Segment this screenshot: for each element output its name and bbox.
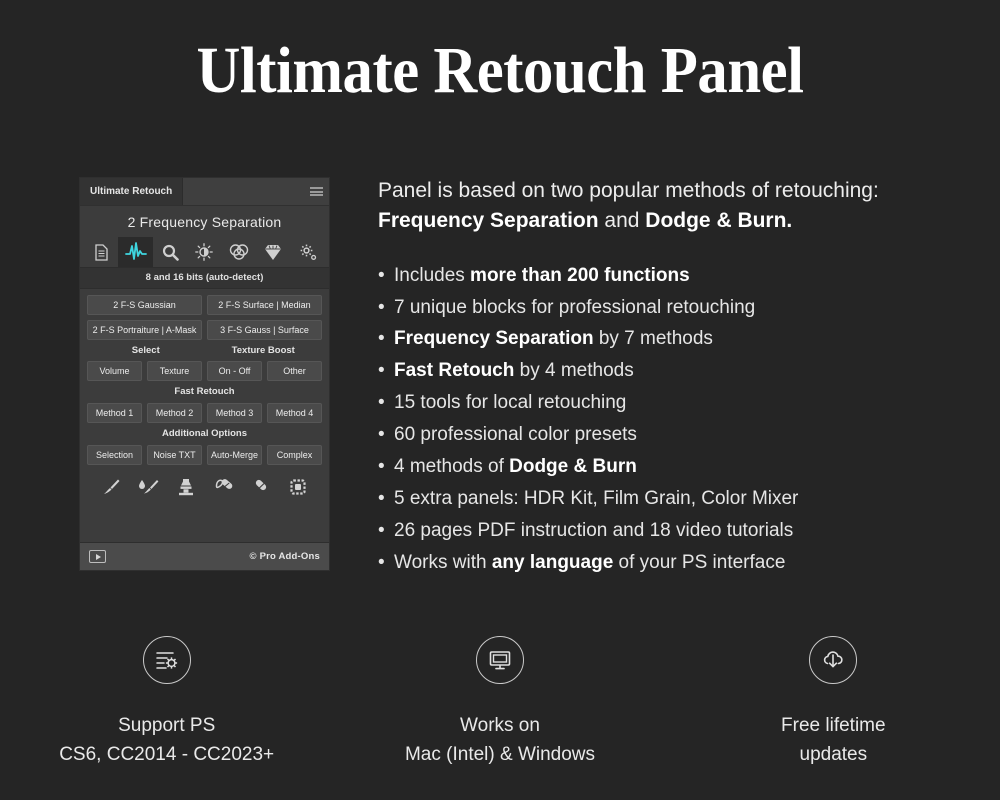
feature-pre: Includes — [394, 265, 470, 286]
button-noise-txt[interactable]: Noise TXT — [147, 445, 202, 465]
ultimate-retouch-panel: Ultimate Retouch 2 Frequency Separation … — [80, 178, 329, 570]
settings-sliders-gear-icon — [143, 636, 191, 684]
button-2fs-surface-median[interactable]: 2 F-S Surface | Median — [207, 295, 322, 315]
panel-tab-ultimate-retouch[interactable]: Ultimate Retouch — [80, 178, 183, 205]
list-item: 5 extra panels: HDR Kit, Film Grain, Col… — [378, 483, 988, 515]
label-texture-boost: Texture Boost — [205, 345, 323, 356]
intro-line-2: Frequency Separation and Dodge & Burn. — [378, 206, 988, 236]
waveform-icon[interactable] — [118, 237, 152, 267]
select-button-row: Volume Texture On - Off Other — [87, 361, 322, 381]
feature-post: by 7 methods — [594, 328, 713, 349]
desktop-monitor-icon — [476, 636, 524, 684]
feature-pre: 7 unique blocks for professional retouch… — [394, 297, 755, 318]
feature-pre: 15 tools for local retouching — [394, 392, 626, 413]
button-on-off[interactable]: On - Off — [207, 361, 262, 381]
button-2fs-portraiture-amask[interactable]: 2 F-S Portraiture | A-Mask — [87, 320, 202, 340]
badge-line-1: Support PS — [59, 711, 274, 740]
list-item: Works with any language of your PS inter… — [378, 547, 988, 579]
fs-button-row-1: 2 F-S Gaussian 2 F-S Surface | Median — [87, 295, 322, 315]
panel-heading: 2 Frequency Separation — [80, 206, 329, 237]
group-labels-row: Select Texture Boost — [87, 345, 322, 356]
button-method-3[interactable]: Method 3 — [207, 403, 262, 423]
patch-tool-icon[interactable] — [213, 477, 235, 502]
feature-post: of your PS interface — [613, 552, 785, 573]
label-select: Select — [87, 345, 205, 356]
color-circles-icon[interactable] — [222, 237, 256, 267]
copy-column: Panel is based on two popular methods of… — [378, 176, 988, 579]
panel-footer: © Pro Add-Ons — [80, 542, 329, 570]
feature-list: Includes more than 200 functions 7 uniqu… — [378, 260, 988, 579]
button-complex[interactable]: Complex — [267, 445, 322, 465]
button-auto-merge[interactable]: Auto-Merge — [207, 445, 262, 465]
feature-bold: Fast Retouch — [394, 360, 514, 381]
button-2fs-gaussian[interactable]: 2 F-S Gaussian — [87, 295, 202, 315]
list-item: Includes more than 200 functions — [378, 260, 988, 292]
cloud-download-icon — [809, 636, 857, 684]
panel-icon-toolbar — [80, 237, 329, 267]
badge-line-2: CS6, CC2014 - CC2023+ — [59, 740, 274, 769]
badge-line-1: Free lifetime — [781, 711, 886, 740]
feature-pre: 26 pages PDF instruction and 18 video tu… — [394, 520, 793, 541]
diamond-icon[interactable] — [256, 237, 290, 267]
badge-line-1: Works on — [405, 711, 595, 740]
feature-bold: any language — [492, 552, 613, 573]
badge-line-2: updates — [781, 740, 886, 769]
intro-bold-dodge-burn: Dodge & Burn. — [645, 209, 792, 232]
feature-post: by 4 methods — [514, 360, 633, 381]
panel-copyright: © Pro Add-Ons — [250, 551, 320, 562]
button-texture[interactable]: Texture — [147, 361, 202, 381]
button-method-2[interactable]: Method 2 — [147, 403, 202, 423]
button-volume[interactable]: Volume — [87, 361, 142, 381]
badge-text-free-updates: Free lifetime updates — [781, 711, 886, 770]
intro-paragraph: Panel is based on two popular methods of… — [378, 176, 988, 236]
magnifier-icon[interactable] — [153, 237, 187, 267]
healing-brush-icon[interactable] — [251, 477, 271, 502]
panel-tabbar-spacer — [183, 178, 303, 205]
label-additional-options: Additional Options — [87, 428, 322, 439]
badge-free-updates: Free lifetime updates — [667, 636, 1000, 770]
badge-line-2: Mac (Intel) & Windows — [405, 740, 595, 769]
play-icon[interactable] — [89, 550, 106, 563]
badge-works-on: Works on Mac (Intel) & Windows — [333, 636, 666, 770]
feature-bold: Frequency Separation — [394, 328, 594, 349]
intro-conjunction: and — [599, 209, 646, 232]
hamburger-menu-icon[interactable] — [303, 178, 329, 205]
list-item: Fast Retouch by 4 methods — [378, 355, 988, 387]
panel-tool-row — [87, 470, 322, 511]
texture-chip-icon[interactable] — [288, 477, 308, 502]
feature-pre: 4 methods of — [394, 456, 509, 477]
bit-depth-note: 8 and 16 bits (auto-detect) — [80, 267, 329, 289]
intro-line-1: Panel is based on two popular methods of… — [378, 176, 988, 206]
fast-retouch-button-row: Method 1 Method 2 Method 3 Method 4 — [87, 403, 322, 423]
feature-bold: more than 200 functions — [470, 265, 690, 286]
list-item: 15 tools for local retouching — [378, 387, 988, 419]
intro-bold-frequency-separation: Frequency Separation — [378, 209, 599, 232]
badge-support-ps: Support PS CS6, CC2014 - CC2023+ — [0, 636, 333, 770]
brightness-icon[interactable] — [187, 237, 221, 267]
badge-row: Support PS CS6, CC2014 - CC2023+ Works o… — [0, 636, 1000, 770]
list-item: Frequency Separation by 7 methods — [378, 323, 988, 355]
fs-button-row-2: 2 F-S Portraiture | A-Mask 3 F-S Gauss |… — [87, 320, 322, 340]
gear-icon[interactable] — [291, 237, 325, 267]
additional-options-button-row: Selection Noise TXT Auto-Merge Complex — [87, 445, 322, 465]
button-method-1[interactable]: Method 1 — [87, 403, 142, 423]
document-icon[interactable] — [84, 237, 118, 267]
feature-pre: Works with — [394, 552, 492, 573]
feature-pre: 5 extra panels: HDR Kit, Film Grain, Col… — [394, 488, 798, 509]
feature-pre: 60 professional color presets — [394, 424, 637, 445]
button-selection[interactable]: Selection — [87, 445, 142, 465]
list-item: 60 professional color presets — [378, 419, 988, 451]
badge-text-works-on: Works on Mac (Intel) & Windows — [405, 711, 595, 770]
badge-text-support-ps: Support PS CS6, CC2014 - CC2023+ — [59, 711, 274, 770]
button-method-4[interactable]: Method 4 — [267, 403, 322, 423]
button-other[interactable]: Other — [267, 361, 322, 381]
mixer-brush-icon[interactable] — [138, 477, 160, 502]
clone-stamp-icon[interactable] — [176, 477, 196, 502]
feature-bold: Dodge & Burn — [509, 456, 637, 477]
brush-icon[interactable] — [101, 477, 121, 502]
panel-body: 2 F-S Gaussian 2 F-S Surface | Median 2 … — [80, 289, 329, 511]
list-item: 4 methods of Dodge & Burn — [378, 451, 988, 483]
list-item: 26 pages PDF instruction and 18 video tu… — [378, 515, 988, 547]
label-fast-retouch: Fast Retouch — [87, 386, 322, 397]
button-3fs-gauss-surface[interactable]: 3 F-S Gauss | Surface — [207, 320, 322, 340]
page-title: Ultimate Retouch Panel — [40, 36, 960, 105]
panel-tabbar: Ultimate Retouch — [80, 178, 329, 206]
list-item: 7 unique blocks for professional retouch… — [378, 292, 988, 324]
